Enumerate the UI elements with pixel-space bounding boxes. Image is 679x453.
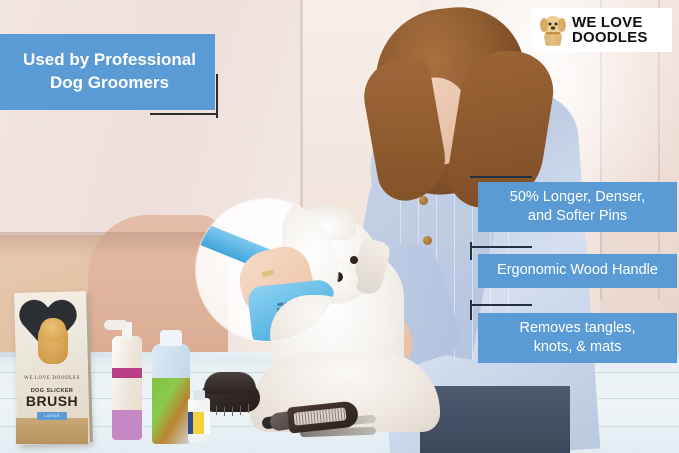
callout-3-connector-vertical [470, 300, 472, 320]
shampoo-bottle-cap [160, 330, 182, 346]
headline-line-1: Used by Professional [23, 49, 196, 72]
pin-brush-head [204, 372, 256, 394]
brand-logo-line-2: DOODLES [572, 30, 648, 45]
blouse-button [419, 196, 428, 205]
callout-detangle: Removes tangles, knots, & mats [478, 313, 677, 363]
banner-connector-vertical [216, 74, 218, 118]
brush-pin [248, 404, 249, 413]
spray-bottle-base [112, 410, 142, 440]
puppy-photo-head [40, 318, 66, 342]
groomer-trousers [420, 386, 570, 453]
callout-1-line-2: and Softer Pins [510, 207, 645, 226]
product-zoom-circle: WE LOVE DOODLES [196, 199, 338, 341]
blouse-button [423, 236, 432, 245]
callout-pins: 50% Longer, Denser, and Softer Pins [478, 182, 677, 232]
brush-pin [216, 406, 217, 415]
headline-banner-text: Used by Professional Dog Groomers [9, 49, 206, 95]
brush-pin [224, 407, 225, 416]
product-marketing-image: WE LOVE DOODLES DOG SLICKER BRUSH LARGE … [0, 0, 679, 453]
callout-3-line-2: knots, & mats [519, 338, 635, 357]
callout-3-line-1: Removes tangles, [519, 319, 635, 338]
callout-1-connector [470, 176, 532, 178]
callout-3-text: Removes tangles, knots, & mats [519, 319, 635, 357]
callout-3-connector [470, 304, 532, 306]
brand-logo: WE LOVE DOODLES [532, 8, 672, 52]
dropper-vial-cap [193, 390, 205, 400]
brand-logo-line-1: WE LOVE [572, 15, 648, 30]
callout-2-line-1: Ergonomic Wood Handle [497, 261, 658, 280]
product-box-title: BRUSH [16, 394, 88, 408]
callout-1-line-1: 50% Longer, Denser, [510, 188, 645, 207]
spray-bottle-band [112, 368, 142, 378]
callout-1-text: 50% Longer, Denser, and Softer Pins [510, 188, 645, 226]
golden-doodle-dog-icon [538, 13, 568, 47]
brush-pin [240, 406, 241, 415]
headline-line-2: Dog Groomers [23, 72, 196, 95]
shampoo-bottle-label [152, 378, 190, 444]
brush-pin [232, 407, 233, 416]
product-box-text: WE LOVE DOODLES DOG SLICKER BRUSH LARGE [16, 376, 88, 444]
callout-2-connector-vertical [470, 242, 472, 260]
spray-bottle-trigger [104, 320, 126, 330]
brand-logo-text: WE LOVE DOODLES [572, 15, 648, 46]
callout-2-connector [470, 246, 532, 248]
callout-2-text: Ergonomic Wood Handle [497, 261, 658, 280]
dog-eye-right [350, 256, 358, 264]
callout-handle: Ergonomic Wood Handle [478, 254, 677, 288]
product-box-size-badge: LARGE [37, 412, 67, 420]
banner-connector-horizontal [150, 113, 218, 115]
dropper-vial-label [188, 412, 210, 434]
headline-banner: Used by Professional Dog Groomers [0, 34, 215, 110]
product-box-brand: WE LOVE DOODLES [16, 376, 88, 381]
